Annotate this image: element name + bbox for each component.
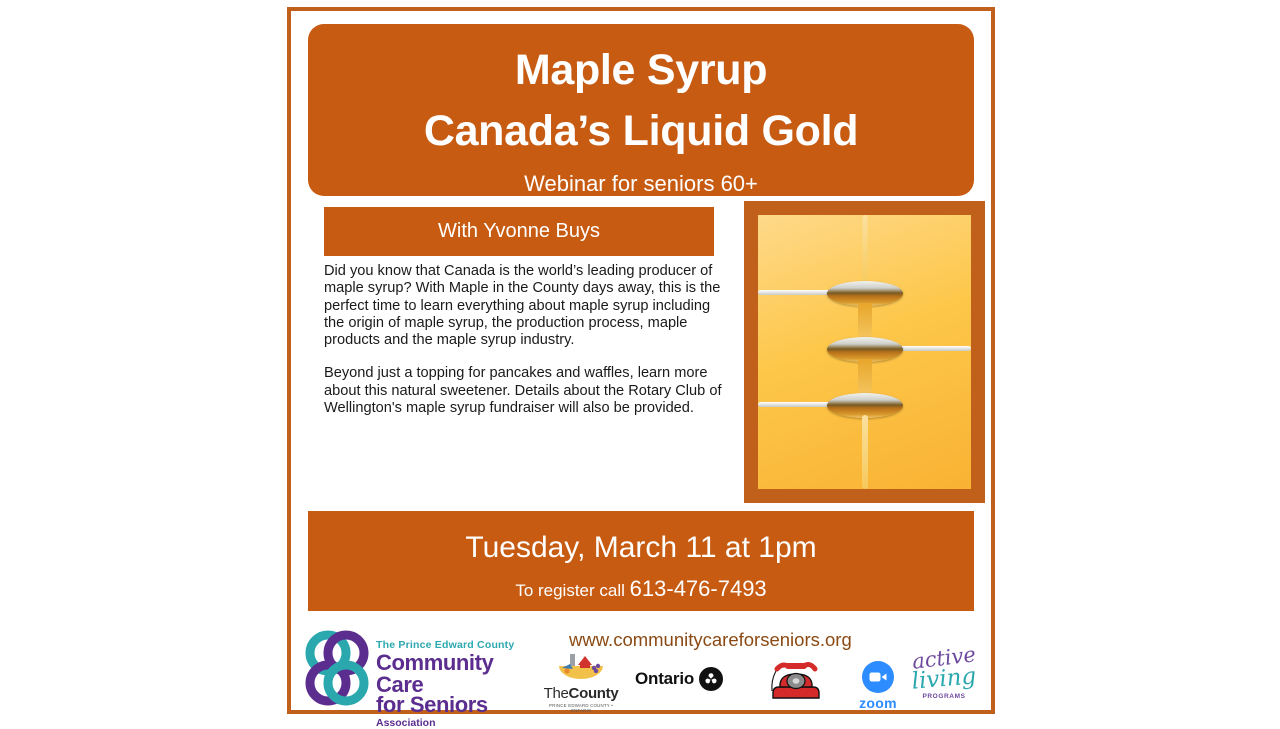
ontario-logo: Ontario	[635, 667, 723, 691]
presenter-label: With Yvonne Buys	[438, 220, 600, 243]
event-date-time: Tuesday, March 11 at 1pm	[308, 530, 974, 566]
cc-line-2: Community Care	[376, 652, 534, 696]
syrup-stream-bottom	[862, 415, 868, 489]
maple-syrup-photo	[758, 215, 971, 489]
telephone-icon	[763, 659, 825, 703]
ontario-wordmark: Ontario	[635, 669, 694, 689]
active-living-programs-logo: active living PROGRAMS	[911, 648, 977, 701]
the-county-crest-icon	[556, 653, 606, 680]
poster-title-line-2: Canada’s Liquid Gold	[308, 101, 974, 162]
county-the: The	[544, 685, 569, 702]
syrup-stream-top	[862, 215, 867, 287]
zoom-wordmark: zoom	[849, 695, 907, 711]
website-link[interactable]: www.communitycareforseniors.org	[569, 629, 852, 651]
cc-line-4: Association	[376, 718, 534, 729]
trillium-icon	[699, 667, 723, 691]
zoom-camera-icon	[862, 661, 894, 693]
event-details-banner: Tuesday, March 11 at 1pm To register cal…	[308, 511, 974, 611]
the-county-logo: TheCounty PRINCE EDWARD COUNTY • ONTARIO	[539, 653, 623, 713]
cc-line-3: for Seniors	[376, 694, 534, 716]
description-paragraph-1: Did you know that Canada is the world’s …	[324, 263, 734, 349]
spoon-1-handle	[758, 290, 836, 295]
maple-syrup-photo-frame	[744, 201, 985, 503]
the-county-wordmark: TheCounty	[539, 686, 623, 701]
poster-subtitle: Webinar for seniors 60+	[308, 170, 974, 199]
footer: www.communitycareforseniors.org The Prin…	[291, 615, 991, 715]
programs-word: PROGRAMS	[911, 694, 977, 701]
description-block: Did you know that Canada is the world’s …	[324, 263, 734, 417]
community-care-logo: The Prince Edward County Community Care …	[304, 626, 534, 711]
poster-frame: Maple Syrup Canada’s Liquid Gold Webinar…	[287, 7, 995, 714]
zoom-logo: zoom	[849, 661, 907, 711]
spoon-3-handle	[758, 402, 836, 407]
community-care-mark-icon	[304, 628, 370, 708]
presenter-bar: With Yvonne Buys	[324, 207, 714, 256]
header-banner: Maple Syrup Canada’s Liquid Gold Webinar…	[308, 24, 974, 196]
register-prefix: To register call	[515, 581, 625, 600]
spoon-2-handle	[893, 346, 971, 351]
description-paragraph-2: Beyond just a topping for pancakes and w…	[324, 365, 734, 417]
register-phone-number[interactable]: 613-476-7493	[630, 576, 767, 601]
county-county: County	[569, 685, 619, 702]
the-county-subtitle: PRINCE EDWARD COUNTY • ONTARIO	[539, 703, 623, 713]
cc-line-1: The Prince Edward County	[376, 640, 534, 651]
community-care-wordmark: The Prince Edward County Community Care …	[376, 640, 534, 728]
poster-title-line-1: Maple Syrup	[308, 40, 974, 101]
register-line: To register call 613-476-7493	[308, 576, 974, 602]
living-word: living	[910, 665, 978, 694]
